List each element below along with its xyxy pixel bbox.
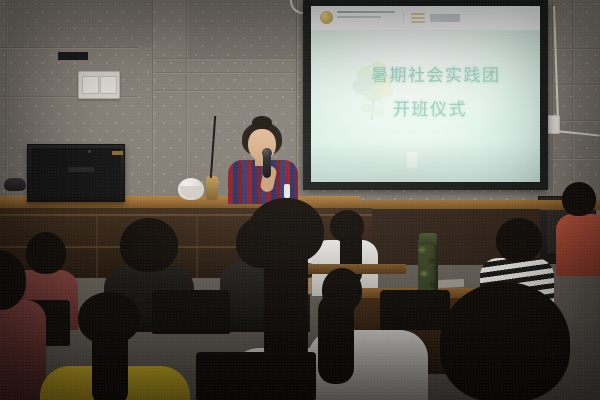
monitor-stand	[58, 52, 88, 60]
head	[322, 268, 362, 312]
auditorium-seat	[380, 290, 450, 330]
podium-panel-seam	[96, 214, 98, 278]
computer-mouse[interactable]	[4, 178, 26, 191]
monitor-brand-badge	[112, 151, 123, 155]
female-speaker-at-podium	[222, 118, 308, 198]
orange-shirt-torso	[556, 214, 600, 276]
monitor-webcam-icon	[88, 150, 91, 153]
screen-shadow-gradient	[311, 142, 540, 182]
wall-groove-horizontal	[552, 158, 600, 160]
head	[248, 198, 324, 264]
desktop-monitor[interactable]	[27, 144, 125, 202]
head	[120, 218, 178, 272]
speaker-face	[248, 129, 276, 161]
auditorium-seat	[152, 290, 230, 334]
microphone-head	[262, 148, 272, 158]
head	[440, 282, 570, 400]
podium-panel-seam	[196, 214, 198, 278]
wall-groove-vertical	[572, 0, 574, 200]
projection-screen-frame: 暑期社会实践团 开班仪式	[303, 0, 548, 190]
wall-groove-horizontal	[0, 47, 138, 49]
wall-groove-horizontal	[154, 58, 296, 60]
head	[78, 292, 140, 344]
wall-groove-horizontal	[552, 84, 600, 86]
wall-groove-vertical	[152, 0, 154, 210]
wall-panel	[188, 0, 296, 58]
wall-panel	[8, 0, 152, 47]
outlet-socket-right[interactable]	[100, 76, 117, 94]
thermos-cap	[419, 233, 437, 245]
wall-groove-horizontal	[154, 72, 296, 74]
speaker-hair-bun	[252, 116, 272, 129]
head	[562, 182, 596, 216]
projection-screen[interactable]: 暑期社会实践团 开班仪式	[311, 6, 540, 182]
head	[496, 218, 542, 262]
auditorium-seat	[196, 352, 316, 400]
outlet-socket-left[interactable]	[82, 76, 99, 94]
small-white-bottle	[284, 184, 290, 198]
head	[330, 210, 364, 242]
wall-groove-horizontal	[154, 90, 296, 92]
wall-power-outlet[interactable]	[78, 71, 120, 99]
monitor-reflection	[68, 167, 94, 172]
slide-title-line-1: 暑期社会实践团	[371, 61, 536, 86]
wooden-object-on-desk	[206, 176, 218, 200]
conference-room-photo: 暑期社会实践团 开班仪式	[0, 0, 600, 400]
wall-groove-horizontal	[552, 48, 600, 50]
torso	[0, 300, 46, 400]
slide-title-line-2: 开班仪式	[393, 95, 536, 120]
slide-title-block: 暑期社会实践团 开班仪式	[371, 61, 536, 120]
head	[26, 232, 66, 274]
